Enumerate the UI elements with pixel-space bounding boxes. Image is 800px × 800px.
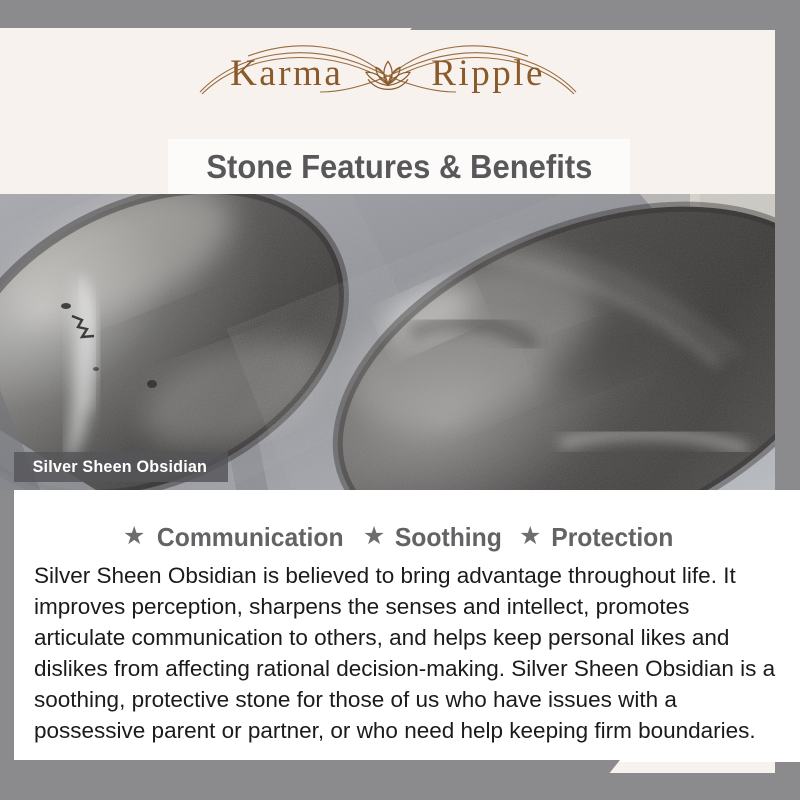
stone-photo: [0, 194, 775, 490]
brand-word-right: Ripple: [431, 55, 545, 92]
keyword-item-protection: ★ Protection: [519, 522, 677, 553]
star-icon: ★: [519, 524, 541, 549]
edge-strip-left: [0, 490, 14, 762]
keyword-list: ★ Communication ★ Soothing ★ Protection: [14, 519, 786, 555]
corner-decoration-bottom-left: [0, 760, 620, 800]
corner-decoration-top-right: [410, 0, 800, 30]
keyword-item-soothing: ★ Soothing: [363, 522, 505, 553]
star-icon: ★: [123, 524, 145, 549]
stone-photo-graphic: [0, 194, 775, 490]
star-icon: ★: [363, 524, 385, 549]
lotus-icon: [360, 57, 416, 91]
page-title: Stone Features & Benefits: [206, 148, 592, 186]
brand-word-left: Karma: [230, 55, 343, 92]
keyword-label: Soothing: [395, 522, 502, 553]
keyword-label: Communication: [157, 522, 344, 553]
description-block: Silver Sheen Obsidian is believed to bri…: [34, 560, 778, 746]
keyword-label: Protection: [552, 522, 674, 553]
edge-strip-right: [775, 28, 800, 490]
poster-card: Karma Ripple Stone Features & Benefits: [0, 0, 800, 800]
title-panel: Stone Features & Benefits: [168, 139, 630, 194]
description-paragraph: Silver Sheen Obsidian is believed to bri…: [34, 560, 778, 746]
photo-caption: Silver Sheen Obsidian: [14, 452, 228, 482]
keyword-item-communication: ★ Communication: [123, 522, 349, 553]
photo-caption-label: Silver Sheen Obsidian: [33, 457, 208, 477]
brand-logo: Karma Ripple: [0, 34, 775, 112]
